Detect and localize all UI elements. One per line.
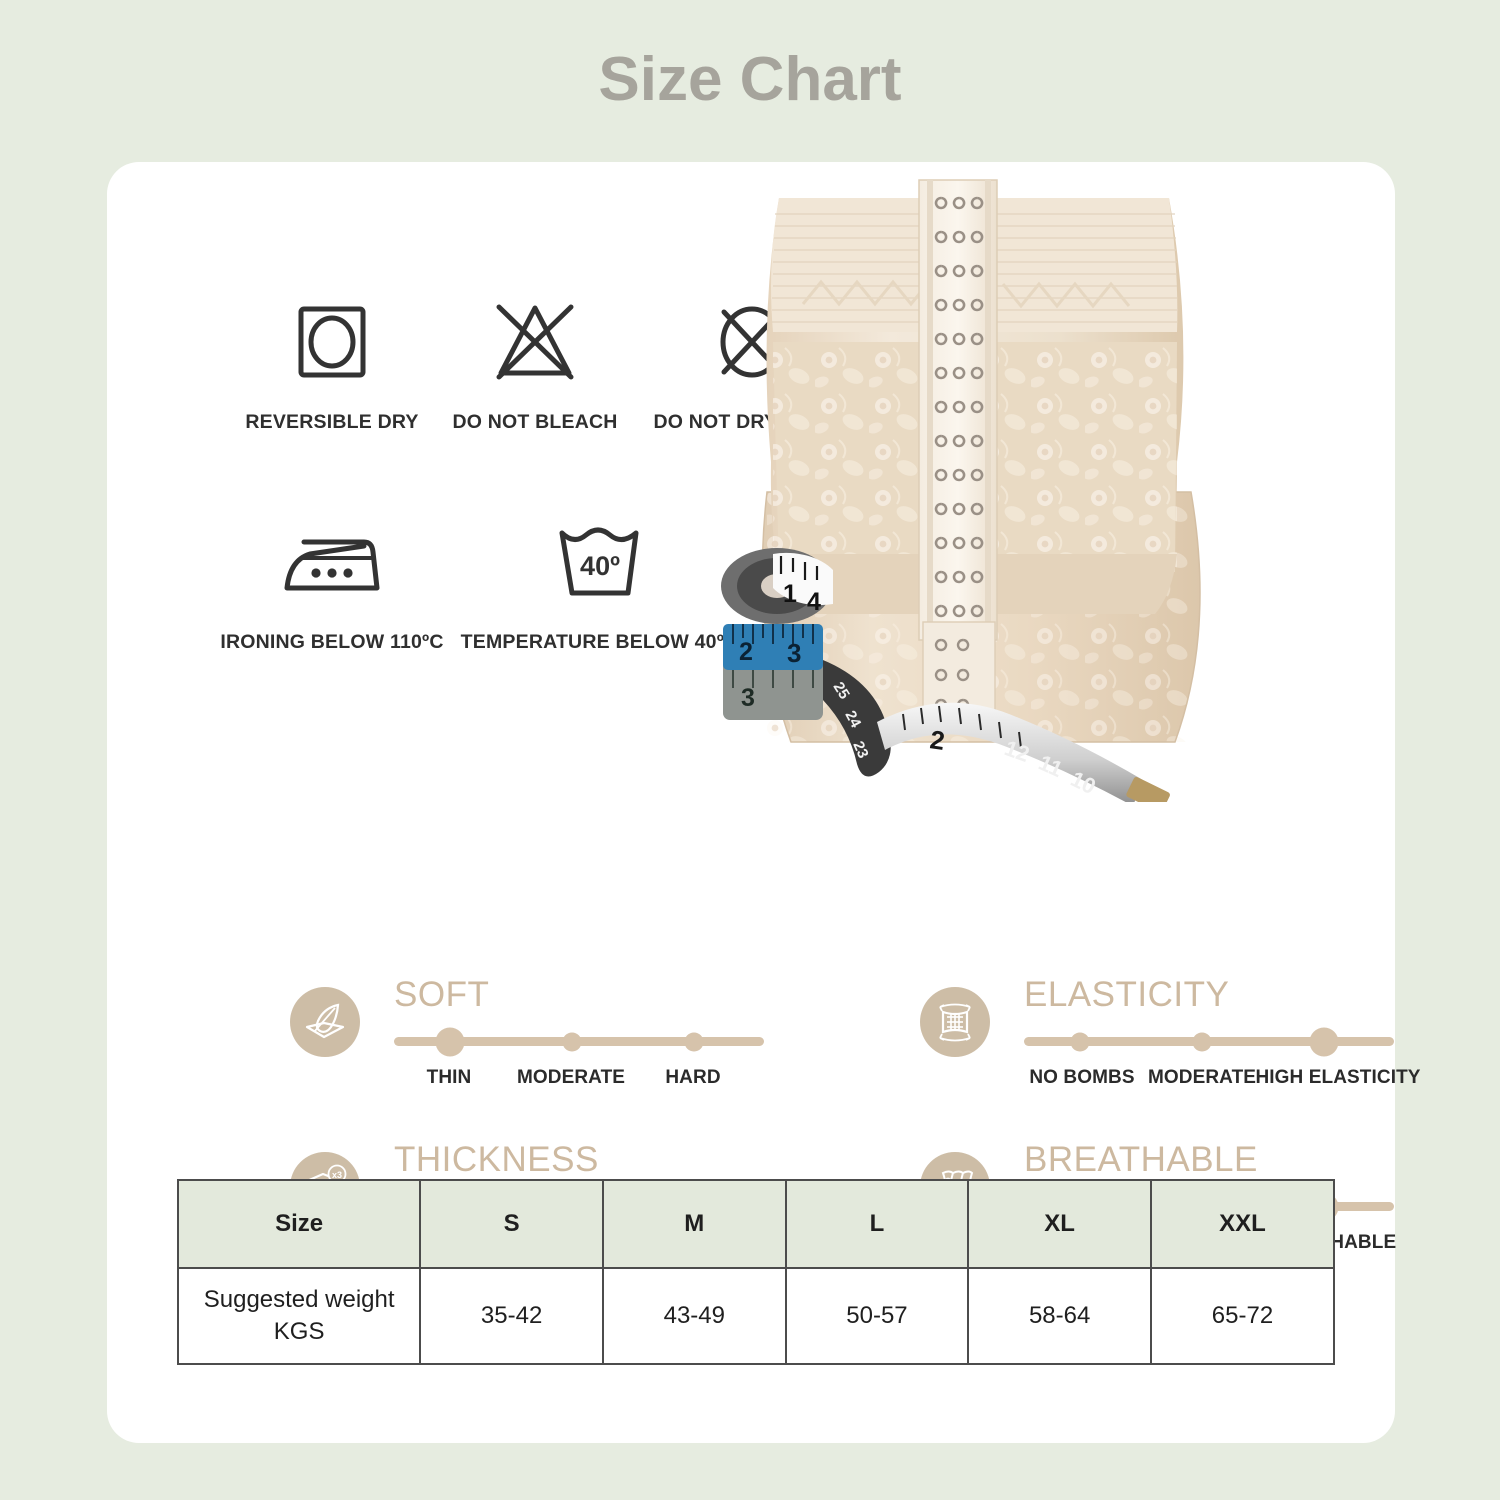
iron-three-dots-icon (202, 507, 462, 617)
table-cell: 58-64 (968, 1268, 1151, 1364)
slider-dot[interactable] (1070, 1032, 1089, 1051)
svg-text:2: 2 (928, 724, 947, 756)
property-title: SOFT (394, 975, 489, 1015)
slider-dot[interactable] (1192, 1032, 1211, 1051)
size-chart-page: Size Chart REVERSIBLE DRY (0, 0, 1500, 1500)
table-header-cell: M (603, 1180, 786, 1268)
table-cell: 65-72 (1151, 1268, 1334, 1364)
level-label: HIGH ELASTICITY (1255, 1067, 1420, 1089)
level-label: THIN (427, 1067, 472, 1089)
level-label: MODERATE (517, 1067, 625, 1089)
care-symbol-label: REVERSIBLE DRY (222, 411, 442, 434)
level-label: HARD (665, 1067, 720, 1089)
care-symbol-ironing: IRONING BELOW 110ºC (202, 507, 462, 654)
table-cell: 43-49 (603, 1268, 786, 1364)
slider-dot[interactable] (684, 1032, 703, 1051)
care-symbol-label: IRONING BELOW 110ºC (202, 631, 462, 654)
slider-dot[interactable] (562, 1032, 581, 1051)
property-title: ELASTICITY (1024, 975, 1229, 1015)
level-label: MODERATE (1148, 1067, 1256, 1089)
care-symbol-label: DO NOT BLEACH (425, 411, 645, 434)
property-slider-soft[interactable] (394, 1037, 764, 1046)
row-label-line2: KGS (274, 1318, 325, 1345)
care-symbol-do-not-bleach: DO NOT BLEACH (425, 287, 645, 434)
product-photo: 2 3 3 (707, 162, 1395, 802)
property-slider-elasticity[interactable] (1024, 1037, 1394, 1046)
care-symbol-reversible-dry: REVERSIBLE DRY (222, 287, 442, 434)
svg-text:1: 1 (783, 580, 797, 608)
property-title: THICKNESS (394, 1140, 599, 1180)
svg-text:4: 4 (807, 588, 821, 616)
table-cell: 35-42 (420, 1268, 603, 1364)
table-row-label: Suggested weight KGS (178, 1268, 420, 1364)
tumble-dry-square-circle-icon (222, 287, 442, 397)
slider-dot-selected[interactable] (1309, 1027, 1338, 1056)
page-title: Size Chart (0, 44, 1500, 115)
table-cell: 50-57 (786, 1268, 969, 1364)
table-header-cell: XXL (1151, 1180, 1334, 1268)
table-header-row: Size S M L XL XXL (178, 1180, 1334, 1268)
wash-temp-value: 40º (580, 551, 620, 581)
slider-dot-selected[interactable] (435, 1027, 464, 1056)
level-label: NO BOMBS (1029, 1067, 1134, 1089)
row-label-line1: Suggested weight (204, 1286, 395, 1313)
size-table: Size S M L XL XXL Suggested weight KGS 3… (177, 1179, 1335, 1365)
feather-on-book-icon (290, 987, 360, 1057)
do-not-bleach-triangle-cross-icon (425, 287, 645, 397)
table-header-cell: L (786, 1180, 969, 1268)
measuring-tape-roll-blue: 2 3 3 (723, 624, 823, 720)
svg-text:3: 3 (787, 638, 801, 668)
property-title: BREATHABLE (1024, 1140, 1258, 1180)
svg-text:3: 3 (741, 684, 755, 712)
table-row: Suggested weight KGS 35-42 43-49 50-57 5… (178, 1268, 1334, 1364)
measuring-tape-roll-white: 1 4 (721, 548, 833, 624)
table-header-cell: S (420, 1180, 603, 1268)
stretch-fabric-arrows-icon (920, 987, 990, 1057)
table-header-cell: Size (178, 1180, 420, 1268)
svg-text:2: 2 (739, 638, 753, 666)
table-header-cell: XL (968, 1180, 1151, 1268)
